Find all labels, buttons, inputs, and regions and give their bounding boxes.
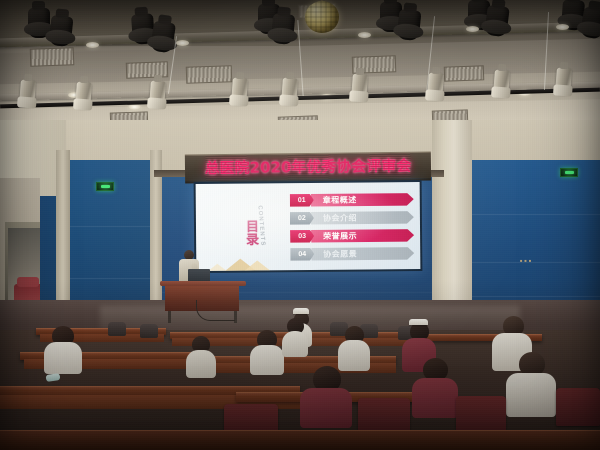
audience-chair: [358, 398, 410, 432]
audience-person: [44, 326, 82, 372]
par-spotlight-icon: [149, 81, 166, 108]
par-spotlight-icon: [351, 74, 368, 101]
structural-column-far: [56, 150, 70, 320]
par-spotlight-icon: [281, 78, 298, 105]
slide-contents-label: CONTENTS 目录: [242, 203, 282, 255]
stage-spotlight-icon: [271, 13, 296, 45]
person-torso: [186, 350, 216, 378]
wall-marking-right: ■■■: [520, 258, 533, 263]
audience-person: [282, 318, 308, 356]
slide-toc-list: 01 章程概述 02 协会介绍 03 荣誉展示 04 协会愿景: [290, 192, 415, 265]
par-spotlight-icon: [231, 78, 248, 105]
stage-spotlight-icon: [484, 5, 509, 37]
toc-number-02: 02: [290, 211, 314, 224]
panel-seam: [62, 226, 154, 227]
panel-seam: [62, 278, 154, 279]
led-banner: 总医院2020年优秀协会评审会: [185, 151, 431, 183]
wall-panel-right: [466, 160, 600, 322]
par-spotlight-icon: [555, 68, 572, 95]
toc-item-03: 03 荣誉展示: [290, 228, 414, 243]
audience-person: [506, 352, 556, 414]
downlight-icon: [128, 104, 141, 110]
toc-label-02: 协会介绍: [311, 211, 414, 225]
person-torso: [282, 331, 308, 357]
person-torso: [506, 373, 556, 417]
person-torso: [44, 342, 82, 374]
par-spotlight-icon: [75, 82, 92, 109]
person-torso: [300, 388, 352, 428]
person-torso: [412, 378, 458, 418]
audience-chair: [456, 396, 506, 432]
podium-leg: [168, 311, 171, 323]
audience-person: [186, 336, 216, 376]
presentation-slide: CONTENTS 目录 01 章程概述 02 协会介绍 03 荣誉展示 04: [196, 182, 421, 271]
air-vent-icon: [186, 65, 233, 84]
nurse-cap-icon: [409, 319, 428, 325]
par-spotlight-icon: [427, 73, 444, 100]
photo-scene: ■■■■■ ■■■ 总医院2020年优秀协会评审会 CONTENTS 目录 01…: [0, 0, 600, 450]
mirror-ball-icon: [305, 1, 339, 33]
person-torso: [250, 345, 284, 375]
downlight-icon: [86, 42, 99, 48]
power-cable: [196, 300, 235, 321]
toc-item-02: 02 协会介绍: [290, 210, 414, 225]
toc-label-03: 荣誉展示: [311, 229, 414, 243]
led-banner-text: 总医院2020年优秀协会评审会: [205, 158, 412, 176]
audience-person: [412, 358, 458, 416]
air-vent-icon: [444, 65, 484, 81]
toc-number-04: 04: [290, 247, 314, 260]
audience-chair: [140, 324, 158, 338]
structural-column-right: [432, 120, 472, 325]
stage-spotlight-icon: [396, 9, 421, 41]
panel-seam: [466, 296, 600, 297]
audience-person: [250, 330, 284, 374]
slide-decoration-shape: [242, 260, 272, 271]
par-spotlight-icon: [493, 70, 510, 97]
contents-label-cn: 目录: [244, 219, 257, 245]
stage-spotlight-icon: [580, 6, 600, 39]
panel-seam: [466, 214, 600, 215]
toc-number-03: 03: [290, 229, 314, 242]
audience-person: [300, 366, 352, 426]
exit-sign-icon: [96, 182, 114, 191]
toc-item-04: 04 协会愿景: [290, 246, 414, 261]
exit-sign-icon: [560, 168, 578, 177]
downlight-icon: [466, 26, 479, 32]
nurse-cap-icon: [293, 308, 309, 314]
downlight-icon: [358, 32, 371, 38]
downlight-icon: [556, 24, 569, 30]
toc-label-04: 协会愿景: [311, 247, 414, 261]
audience-desk-row-nearest: [0, 430, 600, 450]
audience-person: [338, 326, 370, 370]
air-vent-icon: [30, 47, 75, 67]
toc-number-01: 01: [290, 193, 314, 206]
toc-label-01: 章程概述: [311, 193, 414, 207]
downlight-icon: [176, 40, 189, 46]
projection-screen: CONTENTS 目录 01 章程概述 02 协会介绍 03 荣誉展示 04: [194, 180, 423, 273]
audience-chair: [556, 388, 600, 426]
audience-chair: [108, 322, 126, 336]
toc-item-01: 01 章程概述: [290, 192, 414, 207]
stage-spotlight-icon: [48, 15, 73, 47]
par-spotlight-icon: [19, 80, 36, 107]
stage-spotlight-icon: [150, 21, 176, 54]
